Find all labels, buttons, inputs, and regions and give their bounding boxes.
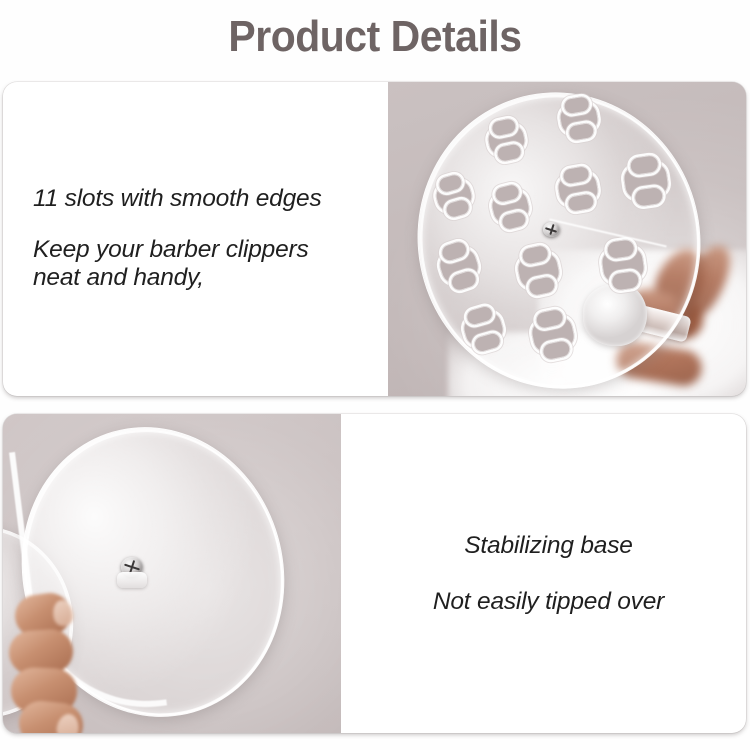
slot-11 xyxy=(529,314,577,355)
feature-card-slots: 11 slots with smooth edges Keep your bar… xyxy=(3,82,746,396)
slot-9 xyxy=(600,245,646,285)
feature-card-base: Stabilizing base Not easily tipped over xyxy=(3,414,746,733)
page-title: Product Details xyxy=(26,12,724,62)
feature-line-base-1: Stabilizing base xyxy=(464,531,632,560)
slot-1 xyxy=(485,122,527,157)
feature-line-slots-2: Keep your barber clippers xyxy=(33,236,378,264)
product-photo-slots xyxy=(388,82,746,396)
feature-line-slots-1: 11 slots with smooth edges xyxy=(33,185,378,213)
slot-8 xyxy=(515,250,562,291)
center-screw-icon xyxy=(543,222,560,237)
hand-holding-base xyxy=(9,590,121,733)
slot-5 xyxy=(556,171,601,207)
feature-line-slots-3: neat and handy, xyxy=(33,264,378,292)
screw-collar xyxy=(117,572,147,588)
slot-6 xyxy=(622,161,670,201)
slot-2 xyxy=(558,101,600,136)
feature-text-block-slots: 11 slots with smooth edges Keep your bar… xyxy=(33,82,378,396)
product-photo-base xyxy=(3,414,341,733)
product-details-page: Product Details 11 slots with smooth edg… xyxy=(0,0,750,750)
feature-line-base-2: Not easily tipped over xyxy=(433,587,664,616)
feature-text-block-base: Stabilizing base Not easily tipped over xyxy=(351,414,746,733)
